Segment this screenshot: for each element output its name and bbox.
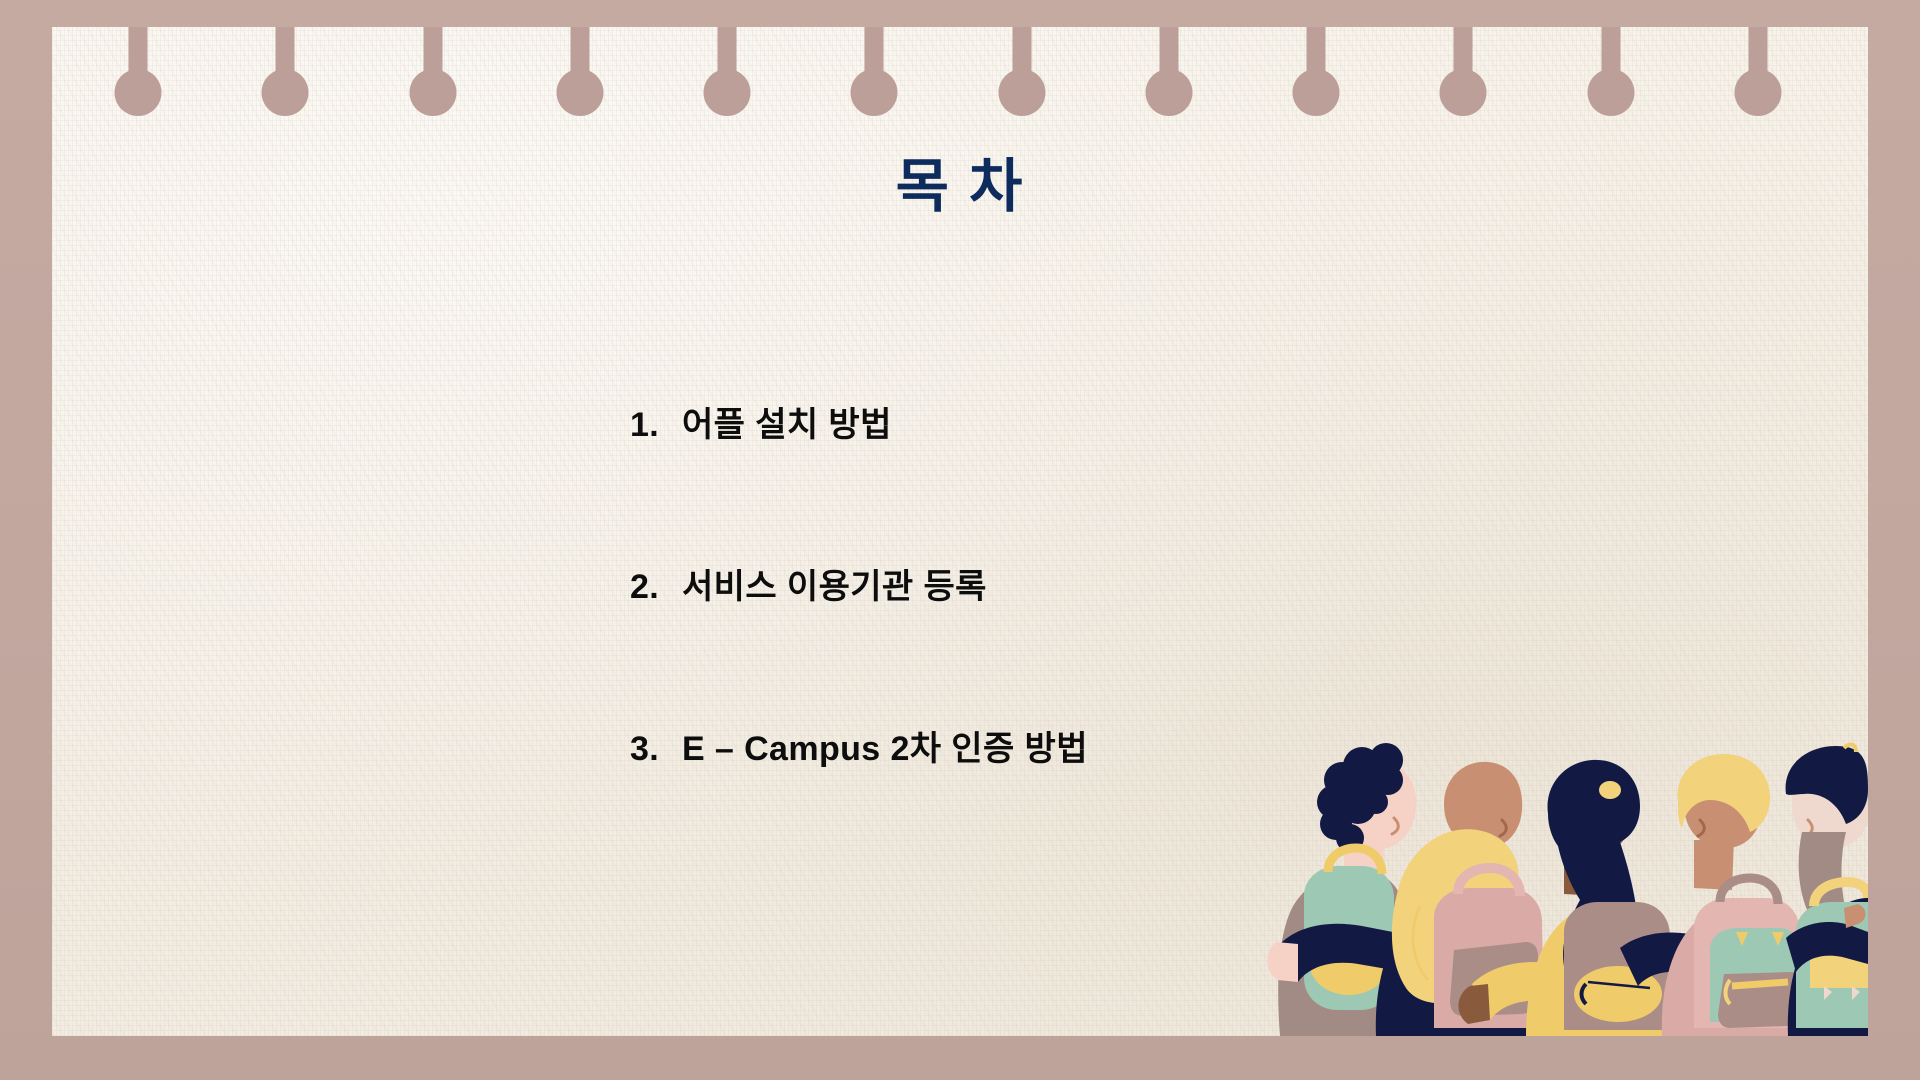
spiral-binding-ring	[255, 27, 315, 157]
spiral-binding-ring	[1581, 27, 1641, 157]
spiral-binding-ring	[550, 27, 610, 157]
ring-head	[262, 69, 309, 116]
students-group-illustration	[1258, 736, 1868, 1036]
ring-head	[115, 69, 162, 116]
spiral-binding-ring	[697, 27, 757, 157]
spiral-binding-ring	[992, 27, 1052, 157]
agenda-item-1-number: 1.	[630, 406, 682, 445]
spiral-binding-ring	[1728, 27, 1788, 157]
ring-head	[851, 69, 898, 116]
agenda-item-2-label: 서비스 이용기관 등록	[682, 559, 987, 608]
page-title: 목 차	[52, 155, 1868, 219]
agenda-item-3-label: E – Campus 2차 인증 방법	[682, 721, 1088, 770]
ring-head	[1735, 69, 1782, 116]
ring-head	[1587, 69, 1634, 116]
agenda-list: 1. 어플 설치 방법 2. 서비스 이용기관 등록 3. E – Campus…	[630, 397, 1530, 770]
ring-head	[1440, 69, 1487, 116]
spiral-binding-ring	[1139, 27, 1199, 157]
agenda-item-1-label: 어플 설치 방법	[682, 397, 892, 446]
ring-head	[556, 69, 603, 116]
slide-canvas: 목 차 1. 어플 설치 방법 2. 서비스 이용기관 등록 3. E – Ca…	[0, 0, 1920, 1080]
spiral-binding-ring	[844, 27, 904, 157]
ring-head	[1293, 69, 1340, 116]
notepad-page: 목 차 1. 어플 설치 방법 2. 서비스 이용기관 등록 3. E – Ca…	[52, 27, 1868, 1036]
agenda-item-3-number: 3.	[630, 730, 682, 769]
ring-head	[409, 69, 456, 116]
spiral-binding-ring	[403, 27, 463, 157]
spiral-binding-ring	[1433, 27, 1493, 157]
spiral-binding-ring	[108, 27, 168, 157]
ring-head	[704, 69, 751, 116]
agenda-item-1[interactable]: 1. 어플 설치 방법	[630, 397, 1530, 446]
agenda-item-2-number: 2.	[630, 568, 682, 607]
spiral-binding	[52, 27, 1868, 157]
ring-head	[998, 69, 1045, 116]
student-5	[1786, 745, 1868, 1036]
agenda-item-2[interactable]: 2. 서비스 이용기관 등록	[630, 559, 1530, 608]
spiral-binding-ring	[1286, 27, 1346, 157]
ring-head	[1145, 69, 1192, 116]
student-4	[1662, 754, 1811, 1036]
